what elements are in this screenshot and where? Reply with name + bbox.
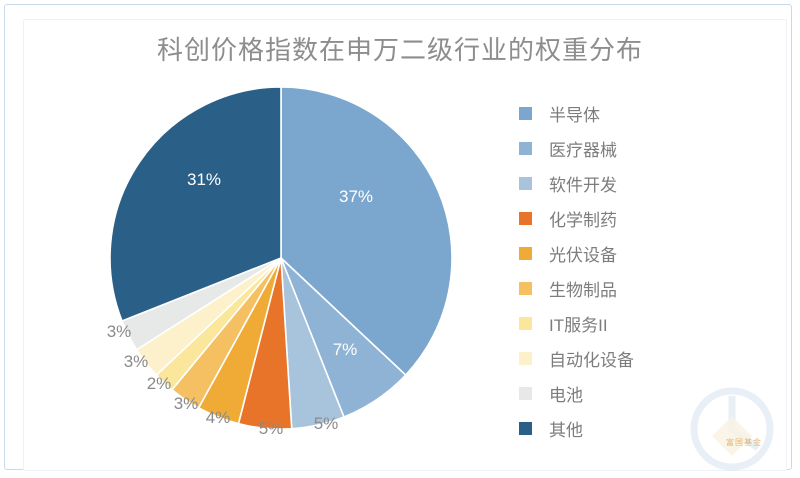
legend-item[interactable]: 生物制品 <box>519 271 689 306</box>
pie-slice-label: 5% <box>314 414 339 434</box>
chart-legend: 半导体医疗器械软件开发化学制药光伏设备生物制品IT服务II自动化设备电池其他 <box>519 96 689 446</box>
legend-item-label: 软件开发 <box>549 171 617 196</box>
legend-swatch-icon <box>519 352 532 365</box>
pie-slice-label: 37% <box>339 187 373 207</box>
legend-item[interactable]: 半导体 <box>519 96 689 131</box>
legend-item[interactable]: 自动化设备 <box>519 341 689 376</box>
legend-item-label: 半导体 <box>549 101 600 126</box>
legend-swatch-icon <box>519 247 532 260</box>
legend-item[interactable]: IT服务II <box>519 306 689 341</box>
legend-item[interactable]: 其他 <box>519 411 689 446</box>
legend-item-label: 化学制药 <box>549 206 617 231</box>
pie-slice-label: 7% <box>333 340 358 360</box>
pie-slice-label: 3% <box>174 394 199 414</box>
pie-slice-label: 3% <box>124 352 149 372</box>
legend-item-label: 电池 <box>549 381 583 406</box>
legend-item[interactable]: 化学制药 <box>519 201 689 236</box>
legend-item-label: 光伏设备 <box>549 241 617 266</box>
legend-item-label: 医疗器械 <box>549 136 617 161</box>
legend-item[interactable]: 电池 <box>519 376 689 411</box>
legend-swatch-icon <box>519 282 532 295</box>
legend-swatch-icon <box>519 212 532 225</box>
legend-item[interactable]: 软件开发 <box>519 166 689 201</box>
legend-item-label: IT服务II <box>549 311 608 336</box>
legend-item-label: 生物制品 <box>549 276 617 301</box>
pie-slice-label: 4% <box>206 408 231 428</box>
legend-item-label: 其他 <box>549 416 583 441</box>
legend-swatch-icon <box>519 107 532 120</box>
legend-item-label: 自动化设备 <box>549 346 634 371</box>
legend-swatch-icon <box>519 317 532 330</box>
legend-swatch-icon <box>519 177 532 190</box>
legend-swatch-icon <box>519 422 532 435</box>
pie-slice-label: 31% <box>187 170 221 190</box>
pie-slice-label: 5% <box>259 419 284 439</box>
legend-item[interactable]: 医疗器械 <box>519 131 689 166</box>
pie-slice-label: 2% <box>147 374 172 394</box>
legend-swatch-icon <box>519 142 532 155</box>
pie-slice-label: 3% <box>107 322 132 342</box>
legend-item[interactable]: 光伏设备 <box>519 236 689 271</box>
legend-swatch-icon <box>519 387 532 400</box>
